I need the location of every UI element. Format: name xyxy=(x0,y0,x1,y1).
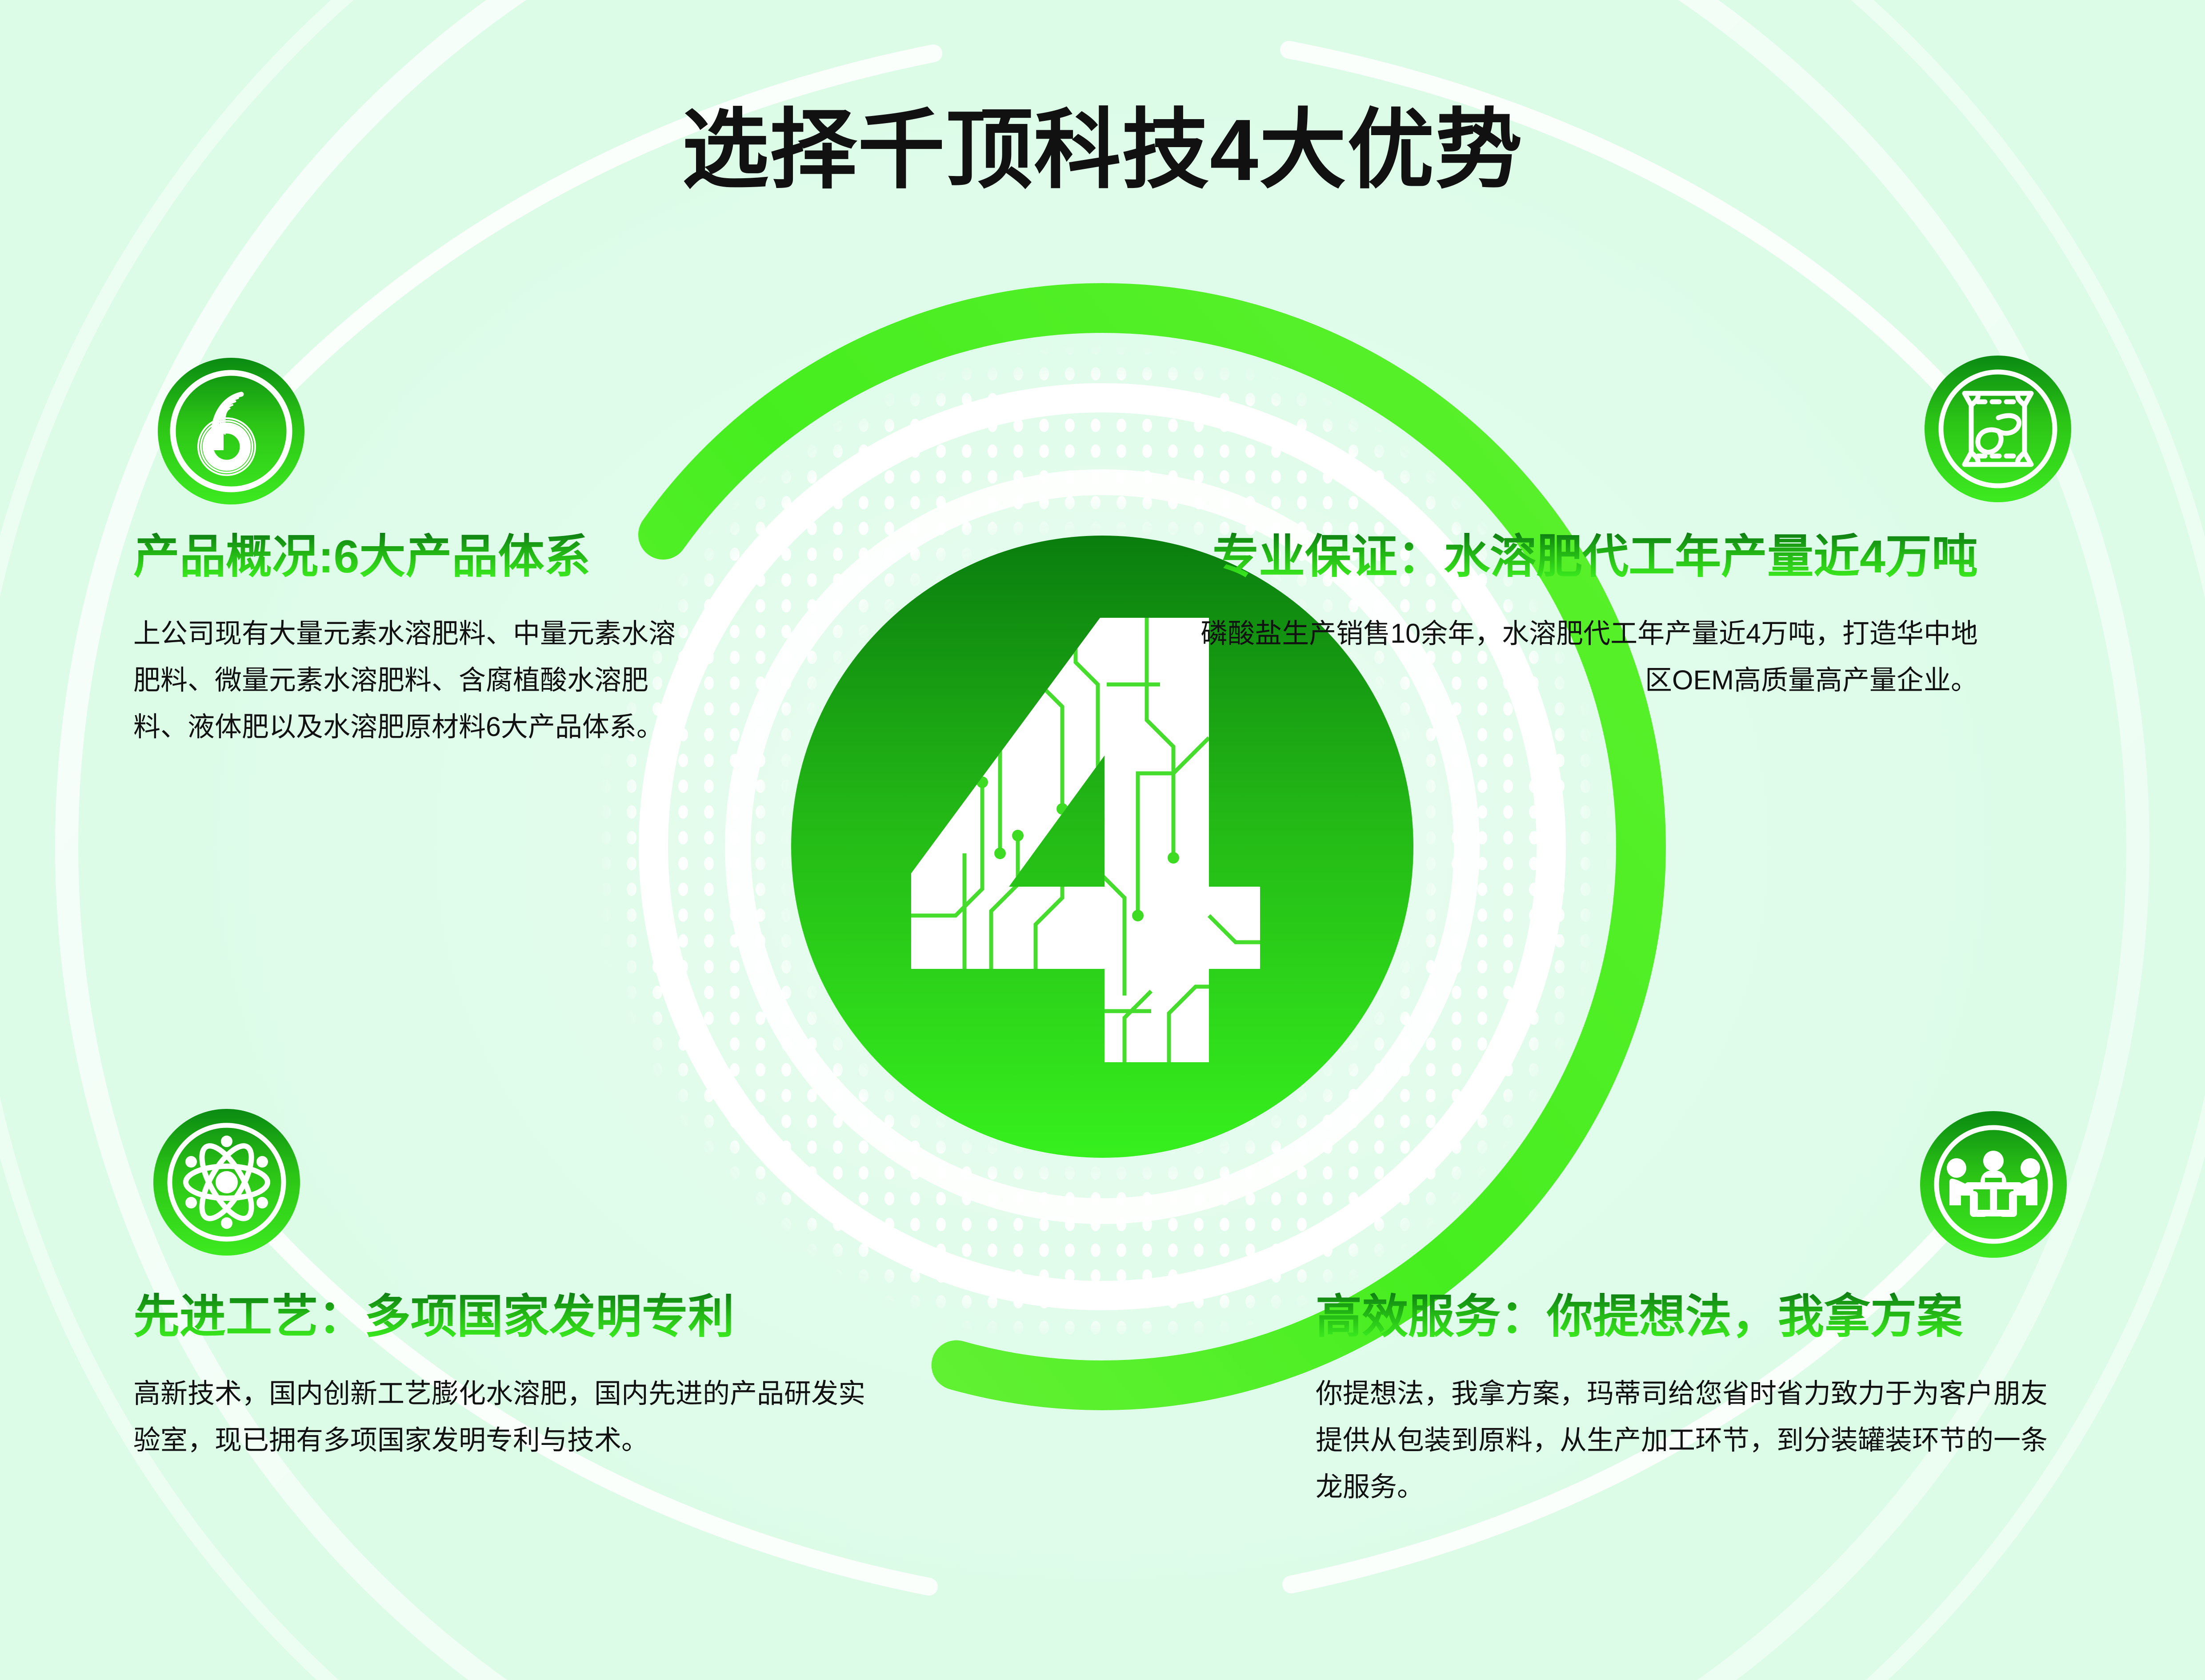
meeting-table-icon xyxy=(1920,1111,2067,1258)
feature-bottom-right-title: 高效服务：你提想法，我拿方案 xyxy=(1316,1291,2067,1343)
feature-top-left-body: 上公司现有大量元素水溶肥料、中量元素水溶肥料、微量元素水溶肥料、含腐植酸水溶肥料… xyxy=(133,610,689,750)
feature-top-right-title: 专业保证：水溶肥代工年产量近4万吨 xyxy=(1200,531,1978,583)
feature-bottom-right-body: 你提想法，我拿方案，玛蒂司给您省时省力致力于为客户朋友提供从包装到原料，从生产加… xyxy=(1316,1370,2067,1510)
poster-canvas: 选择千顶科技4大优势 xyxy=(0,0,2205,1680)
page-title: 选择千顶科技4大优势 xyxy=(0,102,2205,198)
feature-bottom-left-body: 高新技术，国内创新工艺膨化水溶肥，国内先进的产品研发实验室，现已拥有多项国家发明… xyxy=(133,1370,889,1464)
feature-bottom-left: 先进工艺：多项国家发明专利 高新技术，国内创新工艺膨化水溶肥，国内先进的产品研发… xyxy=(133,1291,889,1464)
feature-top-left: 产品概况:6大产品体系 上公司现有大量元素水溶肥料、中量元素水溶肥料、微量元素水… xyxy=(133,531,689,750)
feature-top-right-body: 磷酸盐生产销售10余年，水溶肥代工年产量近4万吨，打造华中地区OEM高质量高产量… xyxy=(1200,610,1978,704)
feature-bottom-right: 高效服务：你提想法，我拿方案 你提想法，我拿方案，玛蒂司给您省时省力致力于为客户… xyxy=(1316,1291,2067,1510)
fertilizer-bag-icon xyxy=(1925,356,2071,502)
feature-top-right: 专业保证：水溶肥代工年产量近4万吨 磷酸盐生产销售10余年，水溶肥代工年产量近4… xyxy=(1200,531,1978,704)
feature-bottom-left-title: 先进工艺：多项国家发明专利 xyxy=(133,1291,889,1343)
feature-top-left-title: 产品概况:6大产品体系 xyxy=(133,531,689,583)
number-six-circle-icon xyxy=(158,358,304,504)
atom-icon xyxy=(153,1109,300,1256)
